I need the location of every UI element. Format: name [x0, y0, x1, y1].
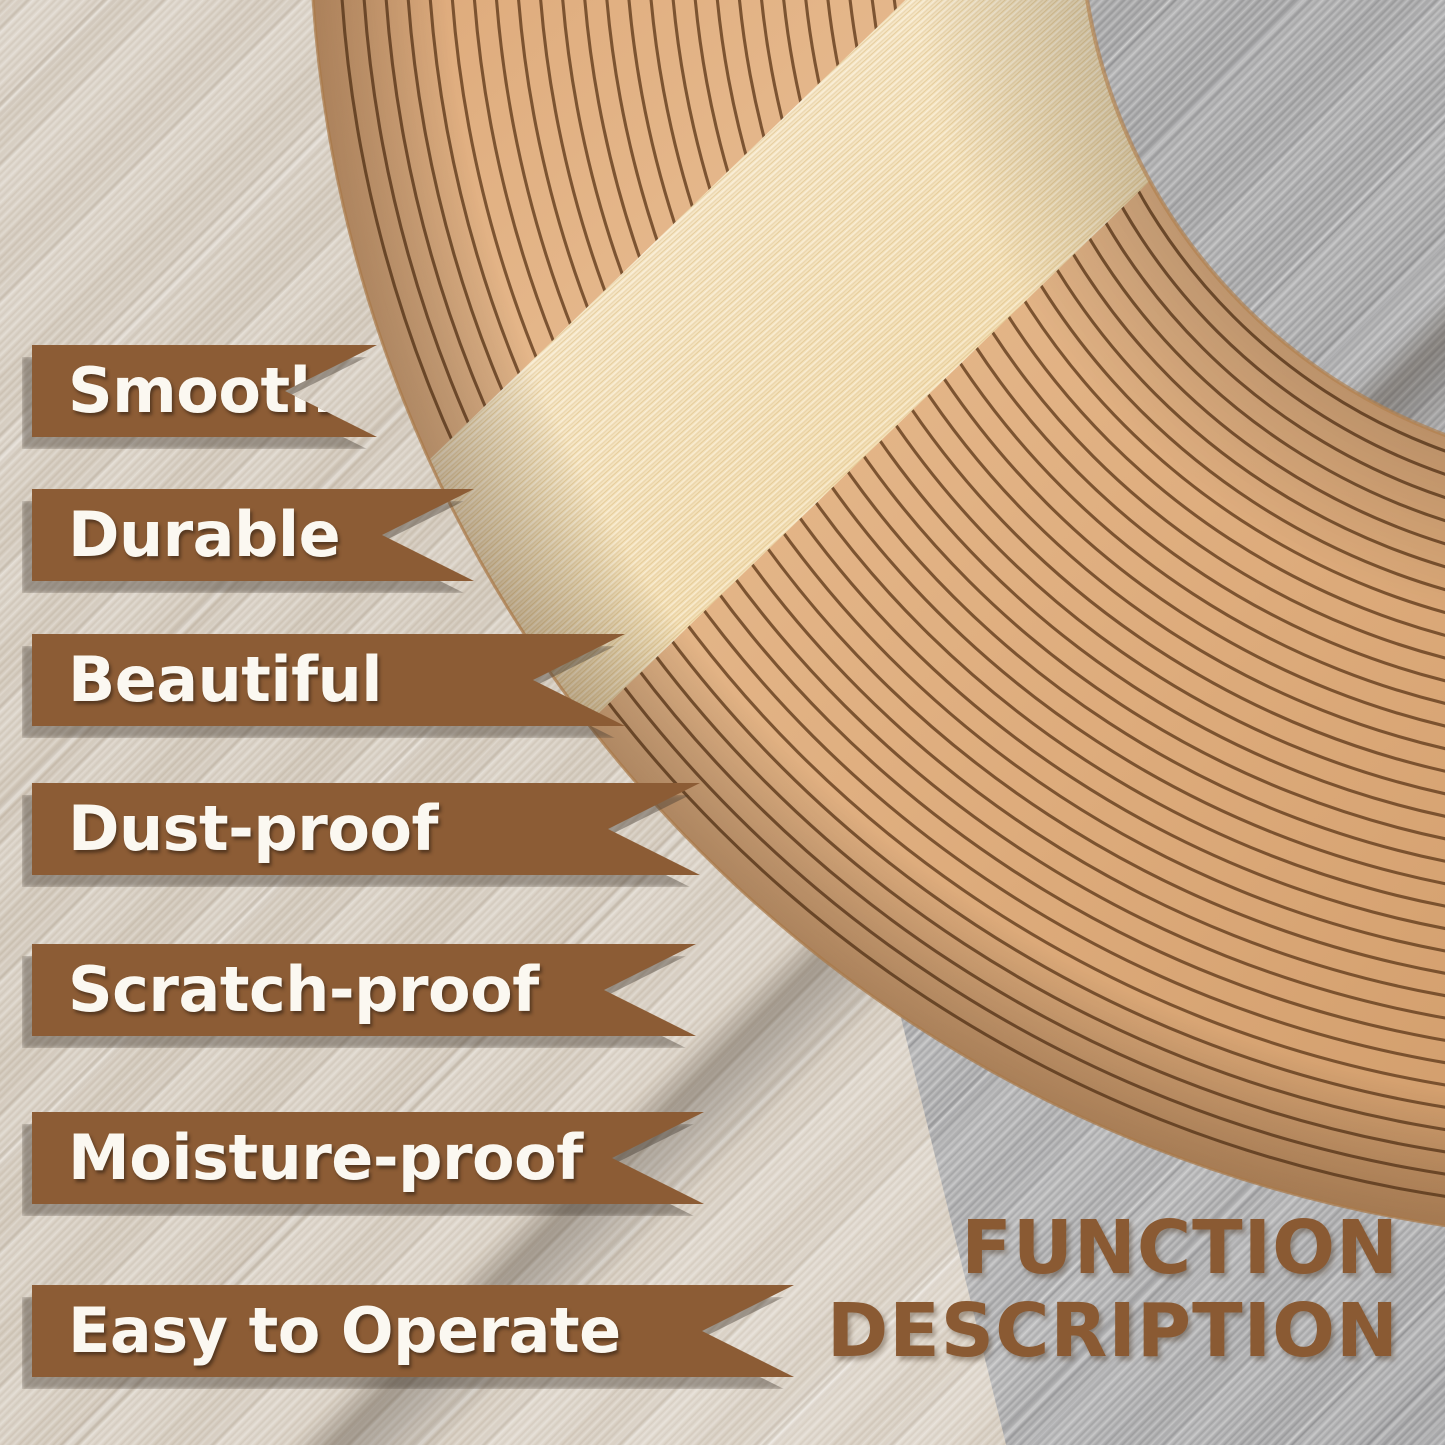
feature-banner-label: Beautiful [32, 649, 382, 711]
feature-banner-label: Moisture-proof [32, 1127, 583, 1189]
feature-banner-label: Dust-proof [32, 798, 438, 860]
feature-banner-label: Easy to Operate [32, 1300, 621, 1362]
feature-banner: Scratch-proof [32, 944, 696, 1036]
feature-banner: Easy to Operate [32, 1285, 794, 1377]
function-description-line-2: DESCRIPTION [827, 1290, 1399, 1373]
feature-banner: Dust-proof [32, 783, 700, 875]
function-description-heading: FUNCTION DESCRIPTION [827, 1207, 1399, 1373]
feature-banner-label: Durable [32, 504, 340, 566]
function-description-line-1: FUNCTION [827, 1207, 1399, 1290]
product-infographic: SmoothDurableBeautifulDust-proofScratch-… [0, 0, 1445, 1445]
feature-banner-label: Scratch-proof [32, 959, 539, 1021]
feature-banner: Moisture-proof [32, 1112, 704, 1204]
